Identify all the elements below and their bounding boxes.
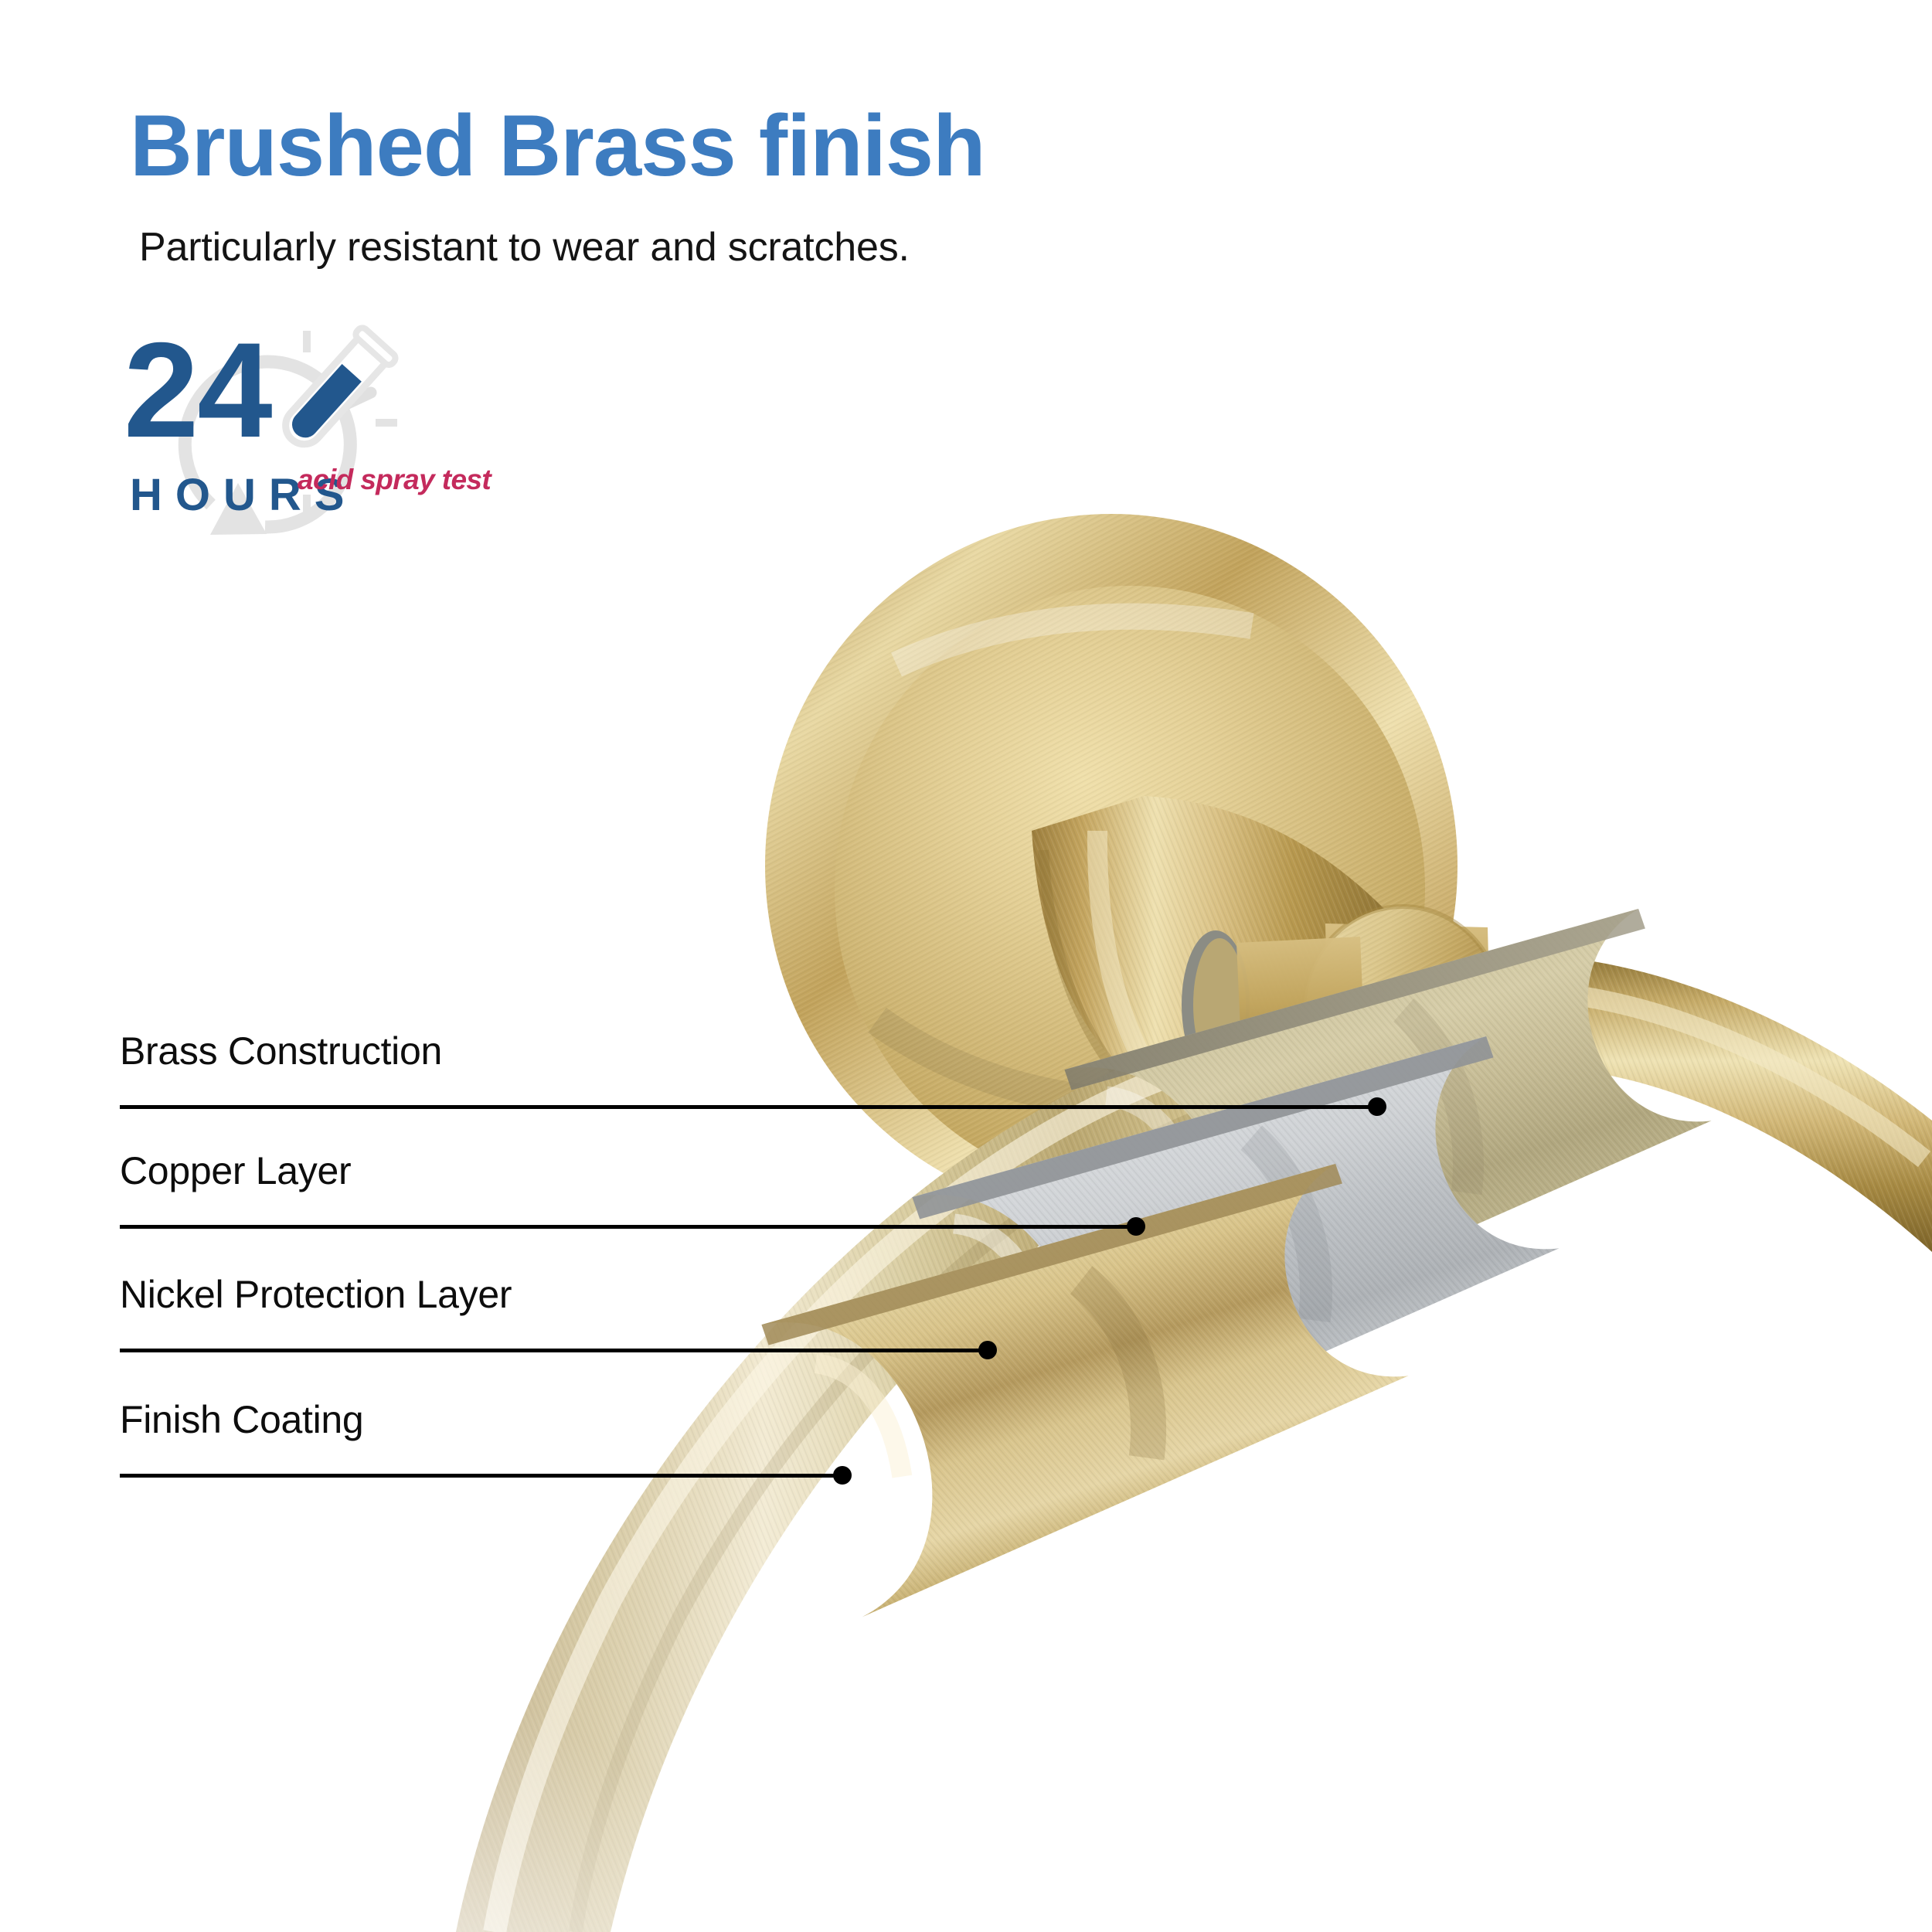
leader-dot xyxy=(1368,1097,1386,1116)
callout-finish-coating: Finish Coating xyxy=(120,1400,363,1439)
leader-line xyxy=(120,1349,988,1352)
leader-dot xyxy=(1127,1217,1145,1236)
product-illustration xyxy=(0,0,1932,1932)
callout-copper-layer: Copper Layer xyxy=(120,1151,351,1190)
leader-line xyxy=(120,1474,842,1478)
callout-label: Nickel Protection Layer xyxy=(120,1275,512,1314)
leader-dot xyxy=(978,1341,997,1359)
callout-label: Copper Layer xyxy=(120,1151,351,1190)
leader-line xyxy=(120,1225,1136,1229)
callout-label: Brass Construction xyxy=(120,1032,442,1070)
callout-nickel-protection-layer: Nickel Protection Layer xyxy=(120,1275,512,1314)
callout-brass-construction: Brass Construction xyxy=(120,1032,442,1070)
callout-label: Finish Coating xyxy=(120,1400,363,1439)
leader-line xyxy=(120,1105,1377,1109)
leader-dot xyxy=(833,1466,852,1485)
